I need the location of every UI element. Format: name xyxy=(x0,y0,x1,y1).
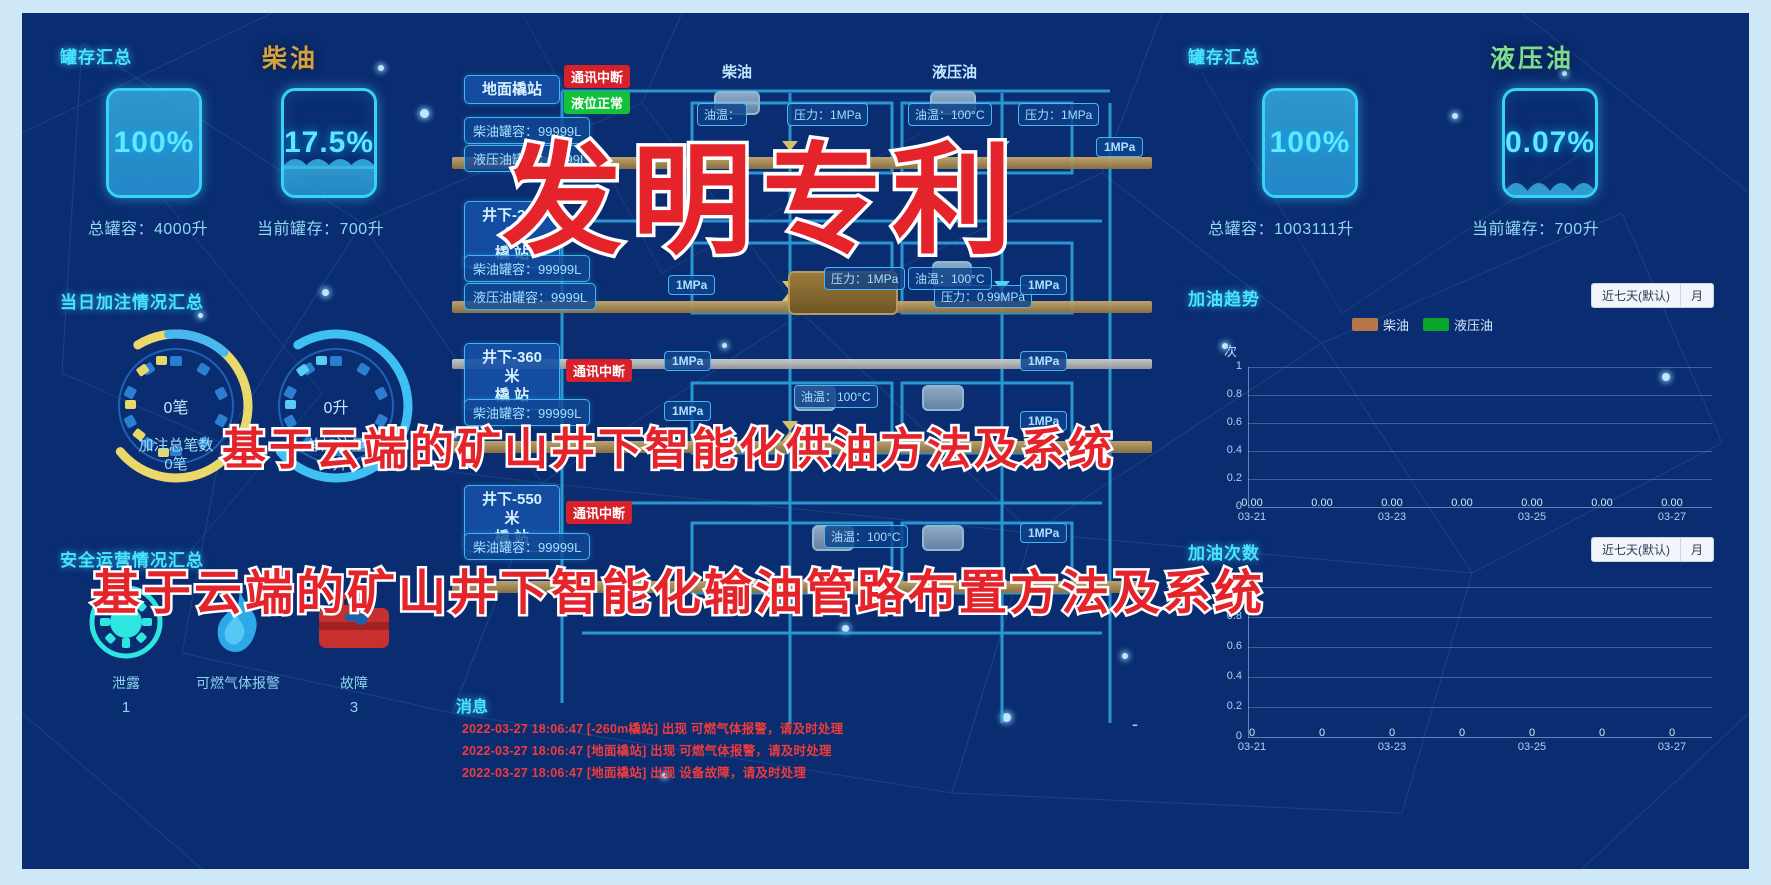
panel-title: 罐存汇总 xyxy=(60,43,132,68)
tank-percent-value: 100% xyxy=(109,91,199,195)
chart-point-label: 0 xyxy=(1650,727,1694,739)
chart-point-label: 0.00 xyxy=(1440,497,1484,509)
tank-gauge: 100% xyxy=(1262,88,1358,198)
chart-point-label: 0 xyxy=(1370,727,1414,739)
chart-y-tick: 0.8 xyxy=(1216,388,1242,400)
chart-point-label: 0 xyxy=(1580,727,1624,739)
chart-x-tick: 03-21 xyxy=(1230,741,1274,753)
pressure-tag: 1MPa xyxy=(1096,137,1143,157)
chart-y-tick: 0.4 xyxy=(1216,444,1242,456)
chart-y-tick: 0.2 xyxy=(1216,472,1242,484)
tank-vessel xyxy=(922,525,964,551)
watermark-line-1: 基于云端的矿山井下智能化供油方法及系统 xyxy=(222,413,1115,477)
message-line: 2022-03-27 18:06:47 [地面橇站] 出现 可燃气体报警，请及时… xyxy=(462,740,832,759)
chart-gridline xyxy=(1248,647,1712,648)
chart-gridline xyxy=(1248,677,1712,678)
chart-x-tick: 03-25 xyxy=(1510,511,1554,523)
panel-title: 当日加注情况汇总 xyxy=(60,288,204,313)
chart-y-tick: 0.6 xyxy=(1216,640,1242,652)
station-tag-hydraulic-capacity: 液压油罐容：9999L xyxy=(464,283,596,310)
tank-capacity-current: 当前罐存：700升 xyxy=(257,215,384,239)
station-label-ground[interactable]: 地面橇站 xyxy=(464,75,560,104)
tank-gauge: 17.5% xyxy=(281,88,377,198)
chart-point-label: 0 xyxy=(1440,727,1484,739)
status-badge-comm-lost: 通讯中断 xyxy=(564,65,630,88)
safety-item-label: 可燃气体报警 xyxy=(178,673,298,693)
chart-gridline xyxy=(1248,367,1712,368)
panel-daily-fill-summary: 当日加注情况汇总 xyxy=(44,278,432,518)
chart-gridline xyxy=(1248,423,1712,424)
tank-percent-value: 0.07% xyxy=(1505,91,1595,195)
chart-y-tick: 1 xyxy=(1216,360,1242,372)
chart-gridline xyxy=(1248,617,1712,618)
pressure-tag: 1MPa xyxy=(664,351,711,371)
chart-x-tick: 03-27 xyxy=(1650,511,1694,523)
tank-capacity-total: 总罐容：1003111升 xyxy=(1208,215,1354,239)
tank-percent-value: 100% xyxy=(1265,91,1355,195)
chart-gridline xyxy=(1248,451,1712,452)
safety-item-count: 1 xyxy=(66,699,186,716)
panel-corner xyxy=(408,239,434,261)
oil-type-label: 柴油 xyxy=(262,39,318,75)
panel-left-tank-summary: 罐存汇总 柴油 100% 17.5% 总罐容：4000升 当前罐存：700升 xyxy=(44,33,432,259)
dashboard-root: 罐存汇总 柴油 100% 17.5% 总罐容：4000升 当前罐存：700升 当 xyxy=(0,0,1771,885)
chart-y-axis xyxy=(1248,367,1249,507)
tank-capacity-current: 当前罐存：700升 xyxy=(1472,215,1599,239)
trend-chart-plot: 1 0.8 0.6 0.4 0.2 0 0.00 0.00 0.00 0.00 … xyxy=(1172,275,1728,517)
panel-right-tank-summary: 罐存汇总 液压油 100% 0.07% 总罐容：1003111升 当前罐存：70… xyxy=(1172,33,1728,259)
safety-item-count: 3 xyxy=(294,699,414,716)
status-badge-comm-lost: 通讯中断 xyxy=(566,359,632,382)
chart-x-tick: 03-27 xyxy=(1650,741,1694,753)
chart-y-tick: 0.2 xyxy=(1216,700,1242,712)
tank-capacity-total: 总罐容：4000升 xyxy=(88,215,208,239)
panel-corner xyxy=(1704,239,1730,261)
chart-y-tick: 0.6 xyxy=(1216,416,1242,428)
panel-corner xyxy=(42,498,68,520)
pressure-tag: 1MPa xyxy=(1020,351,1067,371)
panel-corner xyxy=(42,239,68,261)
messages-title: 消息 xyxy=(456,693,488,717)
panel-corner xyxy=(408,31,434,53)
tank-vessel xyxy=(922,385,964,411)
param-oil-temp: 油温：100°C xyxy=(794,385,878,408)
panel-refuel-trend-chart: 加油趋势 近七天(默认) 月 柴油 液压油 次 xyxy=(1172,275,1728,517)
message-line: 2022-03-27 18:06:47 [-260m橇站] 出现 可燃气体报警，… xyxy=(462,718,843,737)
tank-gauge: 100% xyxy=(106,88,202,198)
chart-x-tick: 03-21 xyxy=(1230,511,1274,523)
safety-item-label: 泄露 xyxy=(66,673,186,693)
chart-x-tick: 03-25 xyxy=(1510,741,1554,753)
chart-point-label: 0 xyxy=(1230,727,1274,739)
panel-corner xyxy=(408,726,434,748)
chart-point-label: 0.00 xyxy=(1510,497,1554,509)
status-badge-comm-lost: 通讯中断 xyxy=(566,501,632,524)
panel-corner xyxy=(42,726,68,748)
chart-point-label: 0.00 xyxy=(1650,497,1694,509)
chart-point-label: 0 xyxy=(1510,727,1554,739)
pressure-tag: 1MPa xyxy=(1020,523,1067,543)
watermark-title: 发明专利 xyxy=(502,103,1022,277)
chart-gridline xyxy=(1248,479,1712,480)
chart-x-tick: 03-23 xyxy=(1370,511,1414,523)
panel-corner xyxy=(408,276,434,298)
panel-title: 罐存汇总 xyxy=(1188,43,1260,68)
chart-gridline xyxy=(1248,587,1712,588)
param-pressure: 压力：1MPa xyxy=(1018,103,1099,126)
chart-gridline xyxy=(1248,395,1712,396)
chart-point-label: 0.00 xyxy=(1300,497,1344,509)
pressure-tag: 1MPa xyxy=(668,275,715,295)
chart-point-label: 0.00 xyxy=(1230,497,1274,509)
chart-gridline xyxy=(1248,707,1712,708)
chart-point-label: 0.00 xyxy=(1580,497,1624,509)
message-line: 2022-03-27 18:06:47 [地面橇站] 出现 设备故障，请及时处理 xyxy=(462,762,806,781)
panel-messages: 消息 2022-03-27 18:06:47 [-260m橇站] 出现 可燃气体… xyxy=(442,685,1160,747)
dashboard-canvas: 罐存汇总 柴油 100% 17.5% 总罐容：4000升 当前罐存：700升 当 xyxy=(22,13,1749,869)
chart-point-label: 0 xyxy=(1300,727,1344,739)
tank-percent-value: 17.5% xyxy=(284,91,374,195)
safety-item-label: 故障 xyxy=(294,673,414,693)
panel-corner xyxy=(1704,31,1730,53)
panel-corner xyxy=(408,498,434,520)
chart-x-tick: 03-23 xyxy=(1370,741,1414,753)
panel-corner xyxy=(1170,239,1196,261)
param-oil-temp: 油温：100°C xyxy=(824,525,908,548)
oil-type-label: 液压油 xyxy=(1490,39,1574,75)
watermark-line-2: 基于云端的矿山井下智能化输油管路布置方法及系统 xyxy=(92,553,1265,623)
tank-gauge: 0.07% xyxy=(1502,88,1598,198)
chart-y-tick: 0.4 xyxy=(1216,670,1242,682)
chart-point-label: 0.00 xyxy=(1370,497,1414,509)
pressure-tag: 1MPa xyxy=(1020,275,1067,295)
